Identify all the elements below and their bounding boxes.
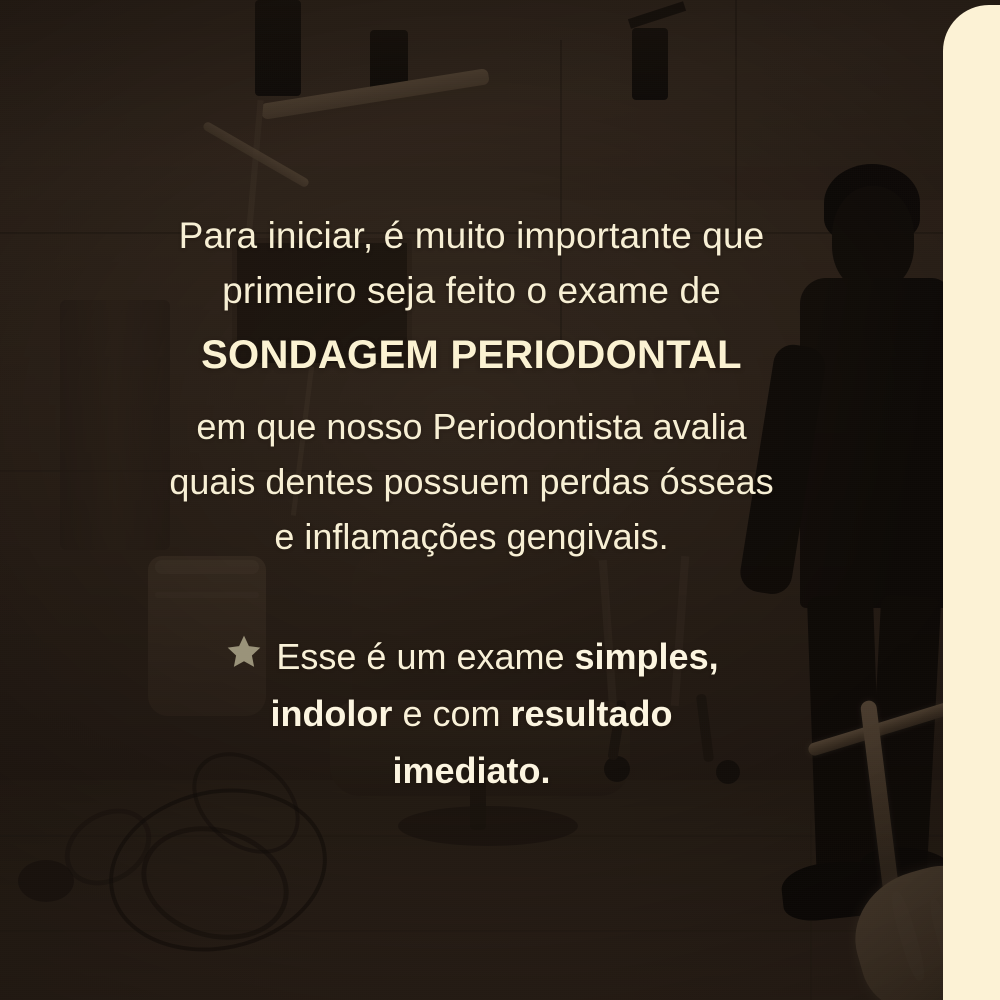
intro-paragraph: Para iniciar, é muito importante que pri… [179, 208, 765, 318]
intro-line-1: Para iniciar, é muito importante que [179, 208, 765, 263]
highlight-paragraph: Esse é um exame simples, indolor e com r… [224, 628, 718, 799]
highlight-line-2: indolor e com resultado [224, 685, 718, 742]
highlight-strong-indolor: indolor [270, 693, 392, 734]
detail-line-1: em que nosso Periodontista avalia [169, 399, 773, 454]
detail-line-2: quais dentes possuem perdas ósseas [169, 454, 773, 509]
headline: SONDAGEM PERIODONTAL [201, 329, 742, 381]
highlight-mid-text: e com [392, 693, 510, 734]
intro-line-2: primeiro seja feito o exame de [179, 263, 765, 318]
highlight-tail-text: imediato. [392, 750, 550, 791]
highlight-line-3: imediato. [224, 742, 718, 799]
slide-canvas: Para iniciar, é muito importante que pri… [0, 0, 1000, 1000]
text-content-block: Para iniciar, é muito importante que pri… [0, 0, 943, 1000]
detail-line-3: e inflamações gengivais. [169, 509, 773, 564]
highlight-line-1: Esse é um exame simples, [224, 628, 718, 685]
detail-paragraph: em que nosso Periodontista avalia quais … [169, 399, 773, 564]
decorative-side-panel [943, 5, 1000, 1000]
highlight-strong-simples: simples, [575, 636, 719, 677]
star-icon [224, 632, 264, 672]
highlight-strong-resultado: resultado [510, 693, 672, 734]
highlight-lead-text: Esse é um exame [276, 636, 574, 677]
